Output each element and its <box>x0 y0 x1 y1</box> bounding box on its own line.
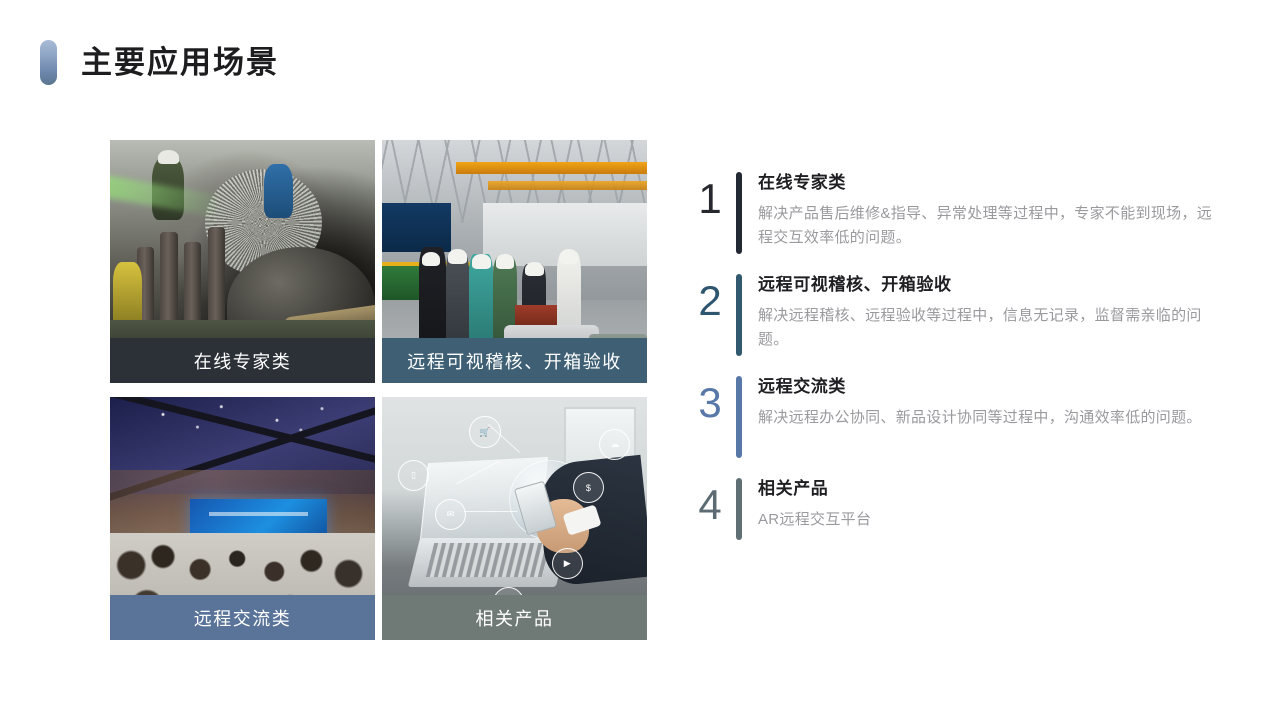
list-item-description: AR远程交互平台 <box>758 508 1220 532</box>
list-item-description: 解决远程稽核、远程验收等过程中，信息无记录，监督需亲临的问题。 <box>758 304 1220 353</box>
slide-root: 主要应用场景 在线专家类 <box>0 0 1280 720</box>
cloud-icon: ☁ <box>599 429 630 460</box>
list-item-heading: 在线专家类 <box>758 172 1220 195</box>
list-item[interactable]: 2 远程可视稽核、开箱验收 解决远程稽核、远程验收等过程中，信息无记录，监督需亲… <box>690 274 1220 356</box>
phone-icon: ▯ <box>398 460 429 491</box>
gallery-caption-1: 在线专家类 <box>110 338 375 383</box>
list-item-number: 2 <box>690 274 730 322</box>
gallery-card-1[interactable]: 在线专家类 <box>110 140 375 383</box>
gallery-card-2[interactable]: 远程可视稽核、开箱验收 <box>382 140 647 383</box>
list-item[interactable]: 4 相关产品 AR远程交互平台 <box>690 478 1220 540</box>
list-item-heading: 远程交流类 <box>758 376 1220 399</box>
list-item-number: 4 <box>690 478 730 526</box>
gallery-card-4[interactable]: 🛒 ☁ ✉ ▯ $ ▶ ▭ 相关产品 <box>382 397 647 640</box>
gallery-caption-4: 相关产品 <box>382 595 647 640</box>
list-item-number: 1 <box>690 172 730 220</box>
list-item-accent-bar <box>736 478 742 540</box>
list-item-accent-bar <box>736 376 742 458</box>
page-title: 主要应用场景 <box>40 40 279 85</box>
list-item-number: 3 <box>690 376 730 424</box>
list-item-heading: 远程可视稽核、开箱验收 <box>758 274 1220 297</box>
list-item-description: 解决产品售后维修&指导、异常处理等过程中，专家不能到现场，远程交互效率低的问题。 <box>758 202 1220 251</box>
list-item-heading: 相关产品 <box>758 478 1220 501</box>
list-item-accent-bar <box>736 172 742 254</box>
list-item[interactable]: 3 远程交流类 解决远程办公协同、新品设计协同等过程中，沟通效率低的问题。 <box>690 376 1220 458</box>
gallery-caption-3: 远程交流类 <box>110 595 375 640</box>
cart-icon: 🛒 <box>469 416 500 447</box>
play-icon: ▶ <box>552 548 583 579</box>
gallery-caption-2: 远程可视稽核、开箱验收 <box>382 338 647 383</box>
scenario-list: 1 在线专家类 解决产品售后维修&指导、异常处理等过程中，专家不能到现场，远程交… <box>690 172 1220 560</box>
image-gallery: 在线专家类 远程可视稽核、开箱验收 远程交流类 <box>110 140 647 640</box>
list-item-description: 解决远程办公协同、新品设计协同等过程中，沟通效率低的问题。 <box>758 406 1220 430</box>
pill-marker-icon <box>40 40 57 85</box>
gallery-card-3[interactable]: 远程交流类 <box>110 397 375 640</box>
list-item-accent-bar <box>736 274 742 356</box>
page-title-text: 主要应用场景 <box>81 47 279 78</box>
list-item[interactable]: 1 在线专家类 解决产品售后维修&指导、异常处理等过程中，专家不能到现场，远程交… <box>690 172 1220 254</box>
